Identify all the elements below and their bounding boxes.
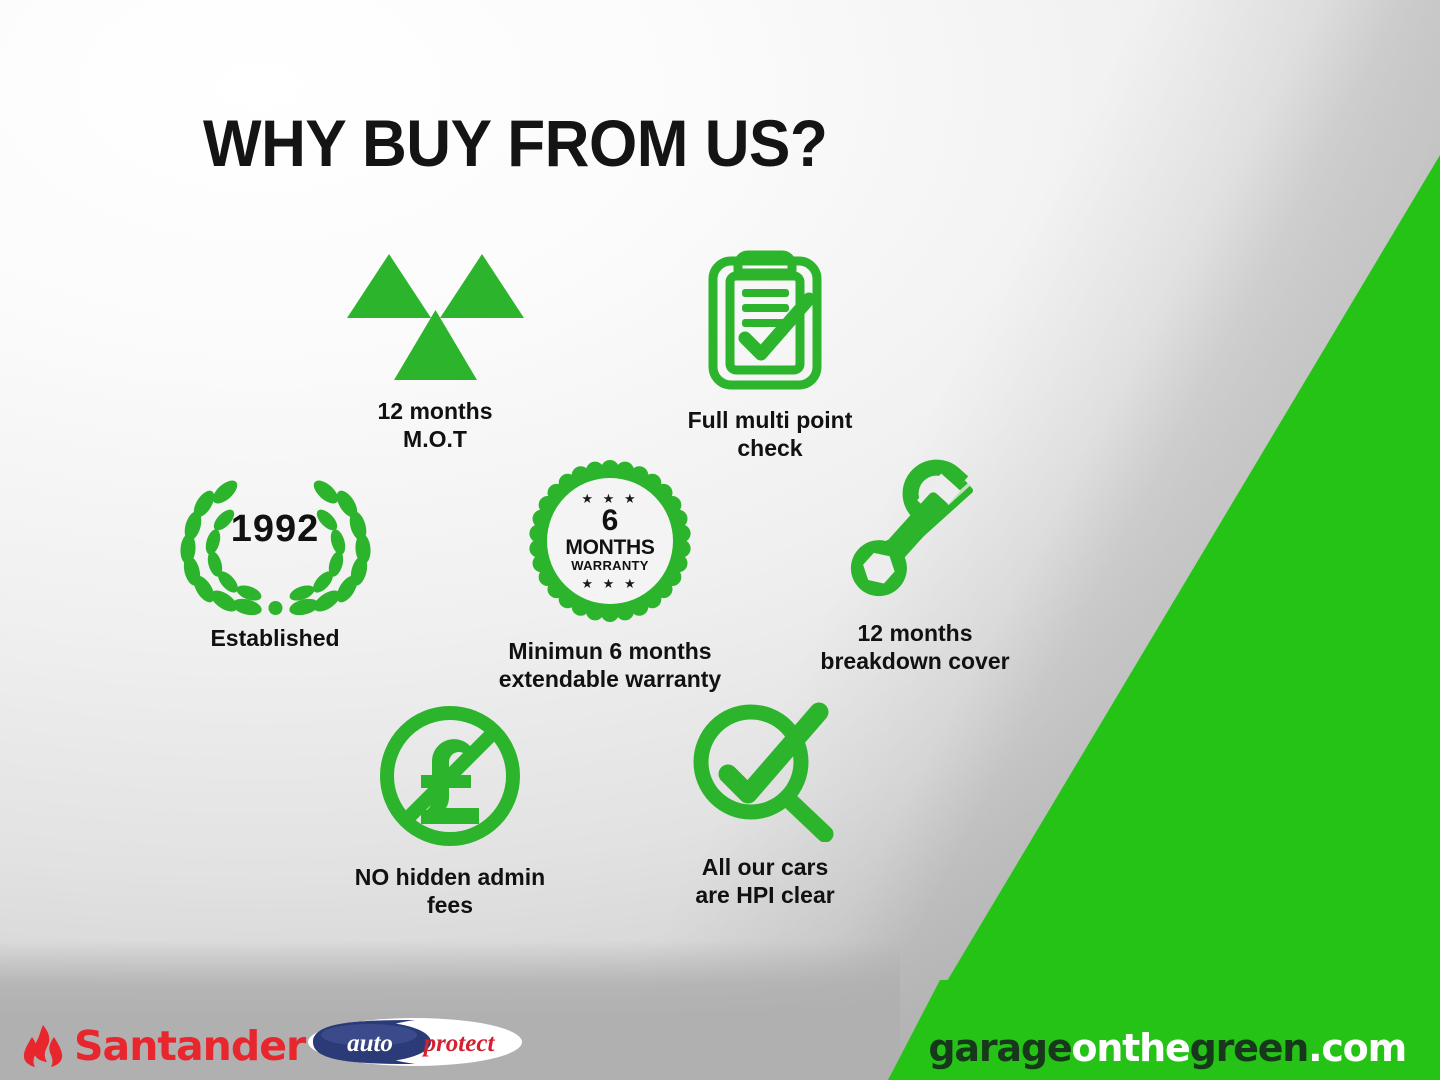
santander-logo: Santander bbox=[22, 1022, 305, 1070]
website-part-com: .com bbox=[1308, 1026, 1406, 1070]
warranty-stars-bottom: ★ ★ ★ bbox=[581, 577, 638, 590]
santander-flame-icon bbox=[22, 1023, 64, 1069]
autoprotect-word-auto: auto bbox=[347, 1030, 393, 1057]
feature-caption: NO hidden admin fees bbox=[355, 863, 545, 919]
wrench-screwdriver-icon bbox=[830, 448, 1000, 613]
warranty-months-label: MONTHS bbox=[565, 537, 654, 558]
established-year: 1992 bbox=[168, 508, 383, 551]
website-part-onthe: onthe bbox=[1071, 1026, 1189, 1070]
mot-triangles-icon bbox=[343, 248, 528, 391]
feature-caption: 12 months M.O.T bbox=[377, 397, 492, 453]
feature-multi-point-check: Full multi point check bbox=[640, 243, 900, 462]
feature-caption: Established bbox=[210, 624, 339, 652]
warranty-label: WARRANTY bbox=[571, 559, 649, 572]
feature-hpi-clear: All our cars are HPI clear bbox=[640, 690, 890, 909]
website-wordmark: garageonthegreen.com bbox=[928, 1026, 1406, 1070]
website-part-green: green bbox=[1190, 1026, 1309, 1070]
feature-warranty: ★ ★ ★ 6 MONTHS WARRANTY ★ ★ ★ Minimun 6 … bbox=[455, 455, 765, 693]
feature-mot: 12 months M.O.T bbox=[305, 248, 565, 453]
website-part-garage: garage bbox=[928, 1026, 1071, 1070]
mot-triangles-svg bbox=[343, 248, 528, 386]
clipboard-check-svg bbox=[701, 243, 839, 395]
magnifier-check-svg bbox=[685, 690, 845, 842]
no-pound-svg bbox=[374, 700, 526, 852]
autoprotect-logo: auto protect bbox=[307, 1017, 523, 1067]
feature-caption: 12 months breakdown cover bbox=[820, 619, 1009, 675]
poster-canvas: WHY BUY FROM US? 12 months M.O.T bbox=[0, 0, 1440, 1080]
santander-wordmark: Santander bbox=[74, 1022, 305, 1070]
warranty-badge-icon: ★ ★ ★ 6 MONTHS WARRANTY ★ ★ ★ bbox=[524, 455, 696, 627]
laurel-wreath-icon: 1992 bbox=[168, 468, 383, 618]
feature-breakdown-cover: 12 months breakdown cover bbox=[790, 448, 1040, 675]
feature-established: 1992 Established bbox=[155, 468, 395, 652]
magnifier-check-icon bbox=[685, 690, 845, 847]
wrench-screwdriver-svg bbox=[830, 448, 1000, 608]
feature-caption: Minimun 6 months extendable warranty bbox=[499, 637, 721, 693]
clipboard-check-icon bbox=[701, 243, 839, 400]
warranty-months-number: 6 bbox=[602, 506, 619, 536]
feature-no-admin-fees: NO hidden admin fees bbox=[315, 700, 585, 919]
autoprotect-word-protect: protect bbox=[422, 1030, 496, 1057]
feature-caption: All our cars are HPI clear bbox=[695, 853, 834, 909]
warranty-badge-inner: ★ ★ ★ 6 MONTHS WARRANTY ★ ★ ★ bbox=[548, 479, 672, 603]
no-pound-icon bbox=[374, 700, 526, 857]
page-title: WHY BUY FROM US? bbox=[203, 105, 827, 181]
